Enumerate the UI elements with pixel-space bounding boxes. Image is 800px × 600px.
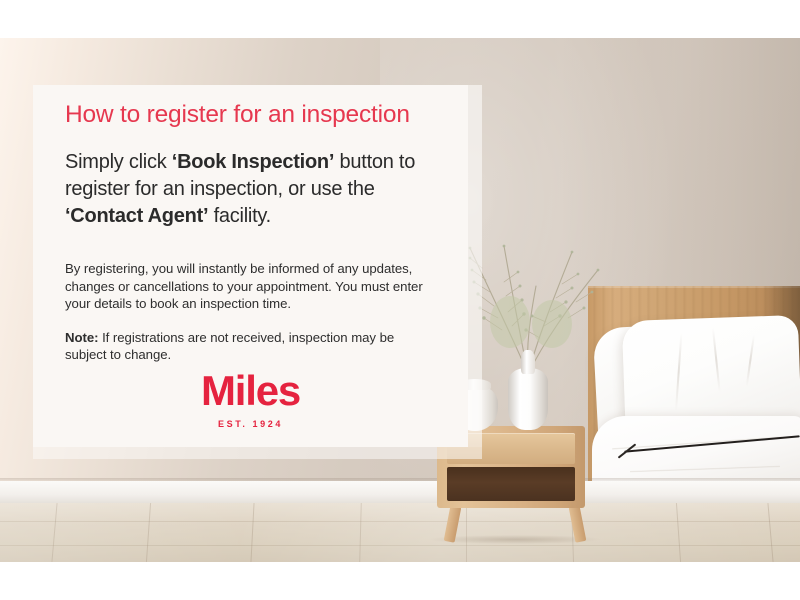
- page-title: How to register for an inspection: [65, 101, 445, 129]
- tall-vase: [508, 368, 548, 430]
- logo-wordmark: Miles: [33, 370, 468, 412]
- duvet-fold: [630, 465, 780, 472]
- contact-agent-label: ‘Contact Agent’: [65, 205, 208, 227]
- pillow-crease: [675, 333, 682, 411]
- tall-vase-neck: [521, 350, 535, 374]
- note-label: Note:: [65, 330, 98, 345]
- instruction-part-3: facility.: [208, 205, 271, 227]
- pillow-crease: [712, 328, 721, 392]
- floor-sheen: [0, 503, 800, 562]
- screenshot-stage: How to register for an inspection Simply…: [0, 0, 800, 600]
- brand-logo: Miles EST. 1924: [33, 370, 468, 429]
- book-inspection-label: ‘Book Inspection’: [172, 151, 334, 173]
- panel-translucent-bottom: [33, 447, 482, 459]
- nightstand-open-shelf: [447, 467, 575, 501]
- panel-translucent-edge: [468, 85, 482, 447]
- registration-details-text: By registering, you will instantly be in…: [65, 260, 437, 313]
- instruction-part-1: Simply click: [65, 151, 172, 173]
- info-panel: How to register for an inspection Simply…: [33, 85, 468, 447]
- note-text: Note: If registrations are not received,…: [65, 329, 437, 364]
- pillow-crease: [746, 335, 755, 387]
- baseboard: [0, 481, 800, 505]
- note-body: If registrations are not received, inspe…: [65, 330, 394, 363]
- instruction-text: Simply click ‘Book Inspection’ button to…: [65, 149, 440, 230]
- info-panel-content: How to register for an inspection Simply…: [65, 101, 445, 364]
- logo-established: EST. 1924: [33, 419, 468, 429]
